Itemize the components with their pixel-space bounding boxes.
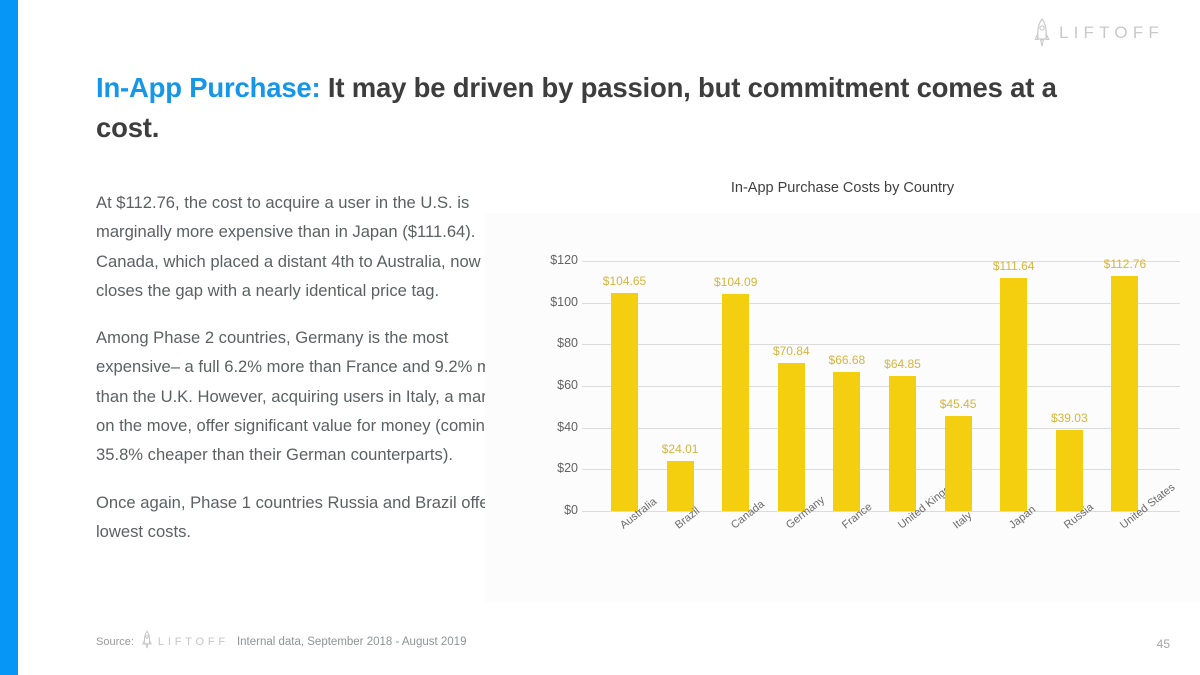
bar-value-label: $39.03 xyxy=(1029,411,1109,425)
y-axis-tick-label: $60 xyxy=(528,378,578,392)
y-axis-tick-label: $80 xyxy=(528,336,578,350)
bar-value-label: $111.64 xyxy=(974,259,1054,273)
y-axis-tick-label: $40 xyxy=(528,420,578,434)
chart-bar[interactable] xyxy=(945,416,972,511)
chart-bar[interactable] xyxy=(722,294,749,511)
bar-value-label: $104.09 xyxy=(696,275,776,289)
gridline xyxy=(582,428,1180,429)
y-axis-tick-label: $0 xyxy=(528,503,578,517)
gridline xyxy=(582,386,1180,387)
gridline xyxy=(582,303,1180,304)
bar-value-label: $64.85 xyxy=(863,357,943,371)
chart-bar[interactable] xyxy=(667,461,694,511)
footer-brand-wordmark: LIFTOFF xyxy=(158,636,229,648)
x-axis-tick-label: Italy xyxy=(951,510,974,532)
chart-bar[interactable] xyxy=(611,293,638,511)
rocket-icon xyxy=(142,630,152,653)
footer-brand-logo: LIFTOFF xyxy=(142,630,229,653)
gridline xyxy=(582,344,1180,345)
bar-value-label: $24.01 xyxy=(640,442,720,456)
footer-source-label: Source: xyxy=(96,636,134,648)
footer-note: Internal data, September 2018 - August 2… xyxy=(237,636,467,648)
bar-chart: $120$100$80$60$40$20$0$104.65Australia$2… xyxy=(0,0,1200,675)
bar-value-label: $112.76 xyxy=(1085,257,1165,271)
page-number: 45 xyxy=(1157,637,1170,651)
chart-bar[interactable] xyxy=(1056,430,1083,511)
y-axis-tick-label: $20 xyxy=(528,461,578,475)
y-axis-tick-label: $100 xyxy=(528,295,578,309)
bar-value-label: $104.65 xyxy=(585,274,665,288)
chart-bar[interactable] xyxy=(1111,276,1138,511)
footer: Source: LIFTOFF Internal data, September… xyxy=(96,630,466,653)
chart-bar[interactable] xyxy=(778,363,805,511)
chart-bar[interactable] xyxy=(1000,278,1027,511)
bar-value-label: $45.45 xyxy=(918,397,998,411)
chart-bar[interactable] xyxy=(889,376,916,511)
chart-bar[interactable] xyxy=(833,372,860,511)
y-axis-tick-label: $120 xyxy=(528,253,578,267)
